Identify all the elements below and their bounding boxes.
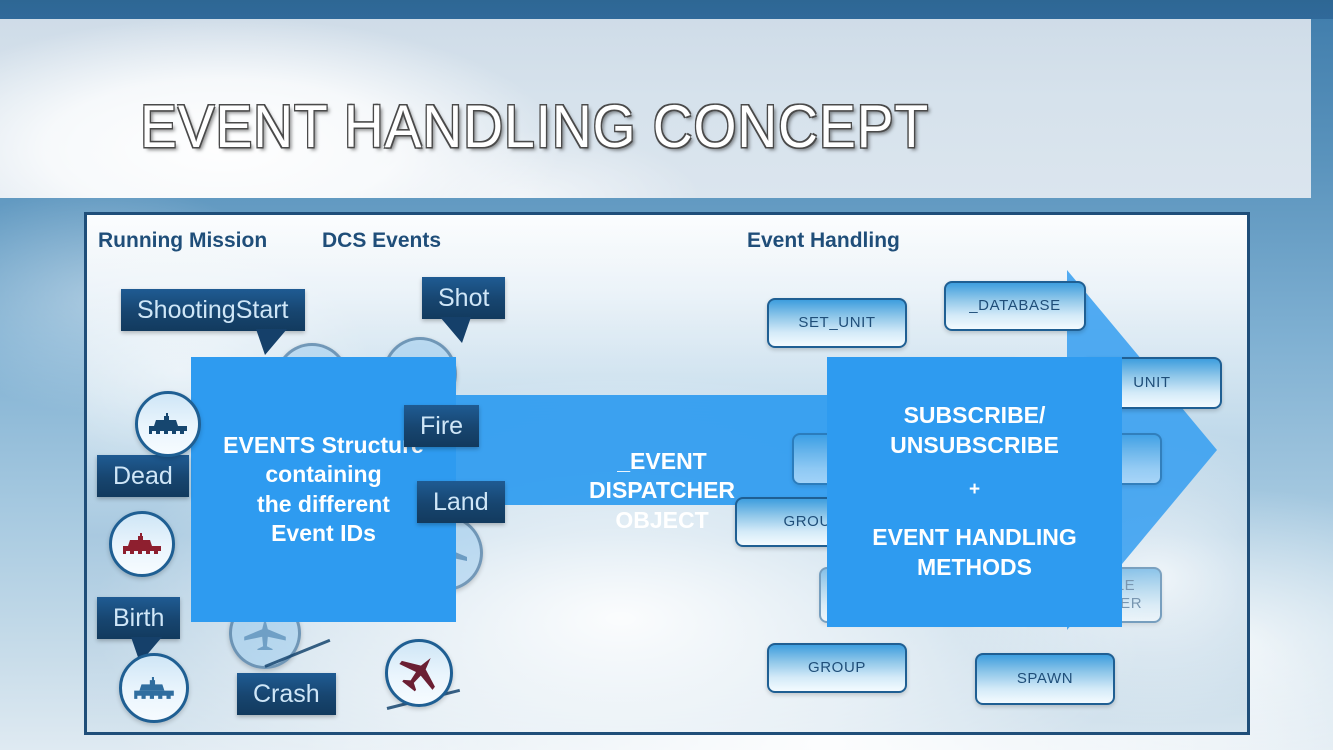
dispatcher-line-1: _EVENT bbox=[542, 447, 782, 476]
events-line-1: EVENTS Structure bbox=[223, 431, 424, 460]
handling-line-2: UNSUBSCRIBE bbox=[890, 431, 1059, 461]
tank-icon-circle-birth bbox=[119, 653, 189, 723]
event-callout-shot[interactable]: Shot bbox=[422, 277, 505, 319]
events-line-4: Event IDs bbox=[223, 519, 424, 548]
header-running-mission: Running Mission bbox=[98, 229, 267, 253]
header-dcs-events: DCS Events bbox=[322, 229, 441, 253]
handling-line-3: EVENT HANDLING bbox=[872, 523, 1076, 553]
jet-crash-icon bbox=[396, 652, 442, 694]
event-callout-label: Shot bbox=[438, 284, 489, 313]
dispatcher-line-2: DISPATCHER bbox=[542, 476, 782, 505]
diagram-frame: Running Mission DCS Events Event Handlin… bbox=[84, 212, 1250, 735]
event-callout-label: Fire bbox=[420, 412, 463, 441]
event-callout-dead[interactable]: Dead bbox=[97, 455, 189, 497]
dispatcher-line-3: OBJECT bbox=[542, 506, 782, 535]
handling-line-1: SUBSCRIBE/ bbox=[890, 401, 1059, 431]
event-callout-label: Crash bbox=[253, 680, 320, 709]
subscribe-text: SUBSCRIBE/ UNSUBSCRIBE bbox=[890, 401, 1059, 461]
class-box-set-unit[interactable]: SET_UNIT bbox=[767, 298, 907, 348]
handling-line-4: METHODS bbox=[872, 553, 1076, 583]
tank-icon bbox=[146, 412, 190, 436]
callout-tail bbox=[440, 317, 471, 343]
event-callout-fire[interactable]: Fire bbox=[404, 405, 479, 447]
event-callout-label: ShootingStart bbox=[137, 296, 289, 325]
events-line-3: the different bbox=[223, 490, 424, 519]
tank-red-icon-circle bbox=[109, 511, 175, 577]
methods-text: EVENT HANDLING METHODS bbox=[872, 523, 1076, 583]
event-handling-panel: SUBSCRIBE/ UNSUBSCRIBE + EVENT HANDLING … bbox=[827, 357, 1122, 627]
top-accent-strip bbox=[0, 0, 1333, 19]
event-callout-land[interactable]: Land bbox=[417, 481, 505, 523]
event-callout-shootingstart[interactable]: ShootingStart bbox=[121, 289, 305, 331]
jet-crash-icon-circle bbox=[385, 639, 453, 707]
event-callout-label: Birth bbox=[113, 604, 164, 633]
event-dispatcher-label: _EVENT DISPATCHER OBJECT bbox=[542, 447, 782, 535]
header-event-handling: Event Handling bbox=[747, 229, 900, 253]
events-line-2: containing bbox=[223, 460, 424, 489]
tank-red-icon bbox=[120, 532, 164, 556]
title-banner: EVENT HANDLING CONCEPT bbox=[0, 19, 1311, 198]
page-title: EVENT HANDLING CONCEPT bbox=[140, 97, 929, 157]
events-structure-text: EVENTS Structure containing the differen… bbox=[223, 431, 424, 549]
slide-canvas: EVENT HANDLING CONCEPT Running Mission D… bbox=[0, 0, 1333, 750]
event-callout-crash[interactable]: Crash bbox=[237, 673, 336, 715]
callout-tail bbox=[256, 329, 287, 355]
class-box-database[interactable]: _DATABASE bbox=[944, 281, 1086, 331]
tank-icon-circle-top bbox=[135, 391, 201, 457]
class-box-spawn[interactable]: SPAWN bbox=[975, 653, 1115, 705]
class-box-group[interactable]: GROUP bbox=[767, 643, 907, 693]
plus-sign: + bbox=[969, 479, 980, 501]
event-callout-label: Land bbox=[433, 488, 489, 517]
event-callout-label: Dead bbox=[113, 462, 173, 491]
tank-icon bbox=[131, 676, 177, 701]
event-callout-birth[interactable]: Birth bbox=[97, 597, 180, 639]
